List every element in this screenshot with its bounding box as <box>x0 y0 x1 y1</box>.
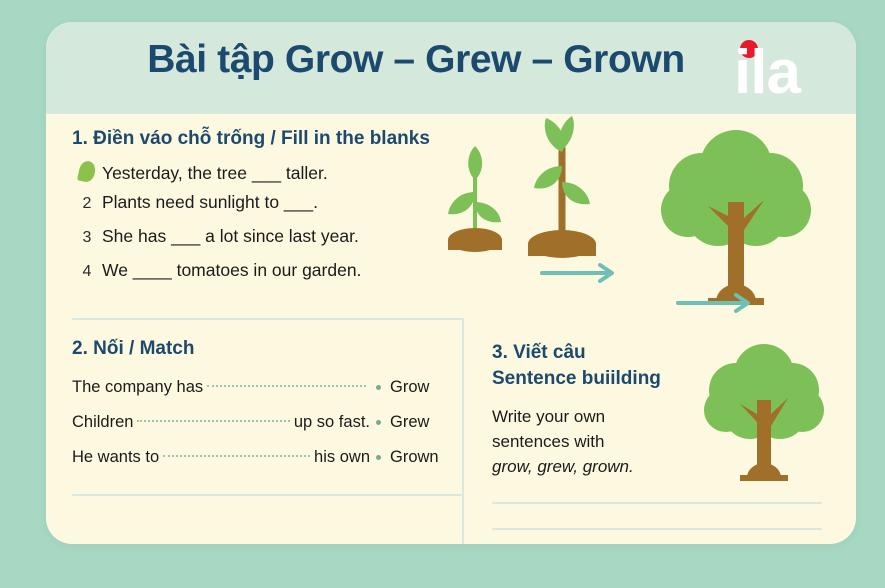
section1-heading: 1. Điền váo chỗ trống / Fill in the blan… <box>72 128 430 150</box>
seedling-medium-icon <box>516 114 608 264</box>
ila-logo: ila <box>734 36 840 110</box>
match-prefix: He wants to <box>72 448 159 467</box>
match-row[interactable]: Children up so fast. Grew <box>72 405 454 440</box>
match-prefix: Children <box>72 413 133 432</box>
match-sentence: The company has <box>72 378 370 397</box>
worksheet-card: Bài tập Grow – Grew – Grown ila 1. Điền … <box>46 22 856 544</box>
match-sentence: He wants to his own <box>72 448 370 467</box>
item-number: 4 <box>72 263 102 281</box>
match-word[interactable]: Grow <box>390 378 454 397</box>
answer-line[interactable] <box>492 502 822 504</box>
section3-instructions: Write your own sentences with grow, grew… <box>492 404 634 479</box>
page-title: Bài tập Grow – Grew – Grown <box>46 38 786 82</box>
section3-heading-line2: Sentence buiilding <box>492 366 661 392</box>
leaf-bullet-icon <box>72 158 102 184</box>
arrow-right-icon <box>540 262 622 284</box>
match-bullet-icon[interactable] <box>376 385 381 390</box>
section-match: 2. Nối / Match The company has Grow Chil… <box>46 318 462 518</box>
match-word[interactable]: Grown <box>390 448 454 467</box>
item-number: 3 <box>72 229 102 247</box>
instruction-line1: Write your own <box>492 404 634 429</box>
question-text: We ____ tomatoes in our garden. <box>102 260 361 281</box>
section3-heading-line1: 3. Viết câu <box>492 340 661 366</box>
list-item[interactable]: 3 She has ___ a lot since last year. <box>72 226 462 260</box>
question-text: Plants need sunlight to ___. <box>102 192 318 213</box>
match-row[interactable]: He wants to his own Grown <box>72 440 454 475</box>
match-sentence: Children up so fast. <box>72 413 370 432</box>
list-item[interactable]: 4 We ____ tomatoes in our garden. <box>72 260 462 294</box>
match-bullet-icon[interactable] <box>376 420 381 425</box>
seedling-small-icon <box>434 136 512 256</box>
section3-heading: 3. Viết câu Sentence buiilding <box>492 340 661 392</box>
match-suffix: up so fast. <box>294 413 370 432</box>
instruction-line2: sentences with <box>492 429 634 454</box>
dotted-leader[interactable] <box>207 385 366 387</box>
match-word[interactable]: Grew <box>390 413 454 432</box>
arrow-right-icon <box>676 292 758 314</box>
header-band: Bài tập Grow – Grew – Grown ila <box>46 22 856 114</box>
dotted-leader[interactable] <box>163 455 310 457</box>
instruction-verbs: grow, grew, grown. <box>492 457 634 476</box>
dotted-leader[interactable] <box>137 420 289 422</box>
question-text: Yesterday, the tree ___ taller. <box>102 163 328 184</box>
section2-match-list: The company has Grow Children up so fast… <box>72 370 454 475</box>
worksheet-poster: Bài tập Grow – Grew – Grown ila 1. Điền … <box>0 0 885 588</box>
section1-question-list: Yesterday, the tree ___ taller. 2 Plants… <box>72 158 462 294</box>
list-item[interactable]: 2 Plants need sunlight to ___. <box>72 192 462 226</box>
section-sentence-building: 3. Viết câu Sentence buiilding Write you… <box>464 318 856 544</box>
section-fill-in-the-blanks: 1. Điền váo chỗ trống / Fill in the blan… <box>46 114 856 318</box>
match-bullet-icon[interactable] <box>376 455 381 460</box>
question-text: She has ___ a lot since last year. <box>102 226 359 247</box>
section2-heading: 2. Nối / Match <box>72 338 194 360</box>
match-row[interactable]: The company has Grow <box>72 370 454 405</box>
match-prefix: The company has <box>72 378 203 397</box>
tree-large-icon <box>658 114 814 314</box>
logo-text: ila <box>734 36 840 110</box>
tree-icon <box>702 332 826 488</box>
answer-line[interactable] <box>492 528 822 530</box>
item-number: 2 <box>72 195 102 213</box>
match-suffix: his own <box>314 448 370 467</box>
list-item[interactable]: Yesterday, the tree ___ taller. <box>72 158 462 192</box>
